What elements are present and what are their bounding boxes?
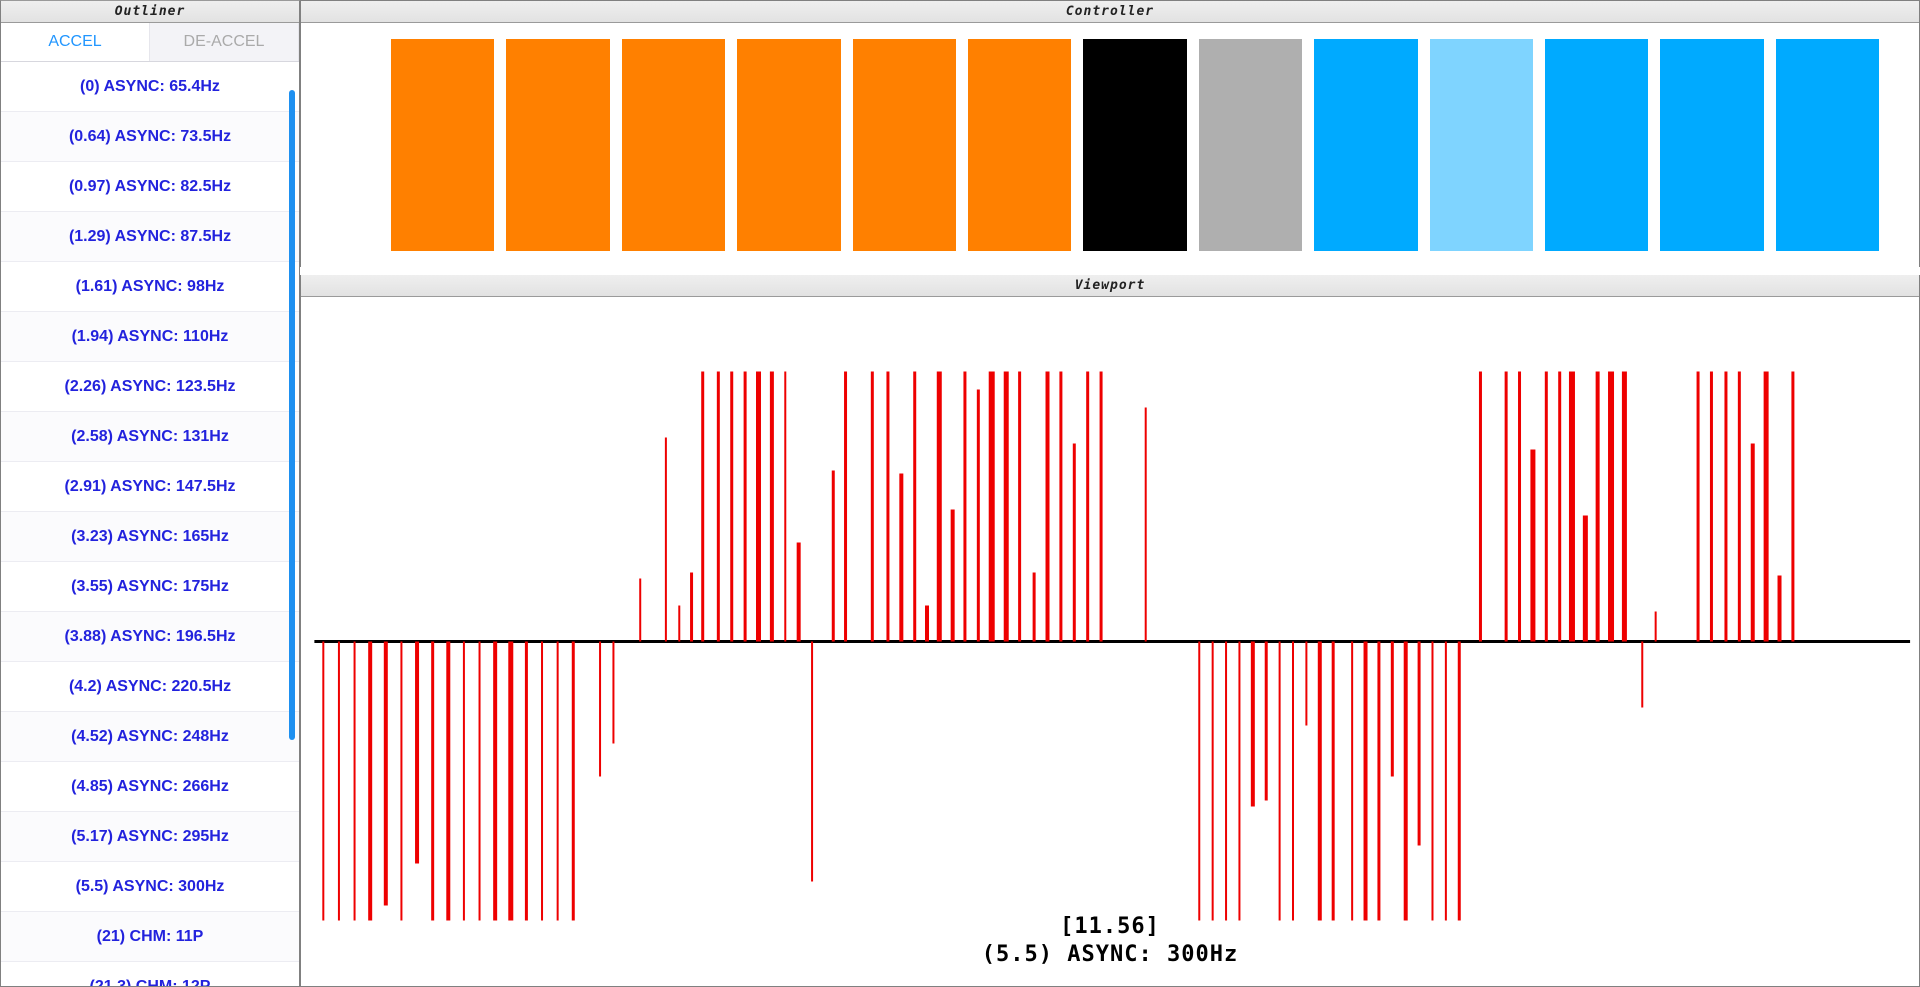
controller-bar-3[interactable] — [622, 39, 725, 251]
viewport-title: Viewport — [301, 275, 1919, 297]
controller-bars — [391, 39, 1879, 251]
outliner-item[interactable]: (2.26) ASYNC: 123.5Hz — [1, 362, 299, 412]
controller-body — [301, 23, 1919, 275]
viewport-body[interactable]: [11.56] (5.5) ASYNC: 300Hz — [301, 297, 1919, 986]
outliner-item[interactable]: (5.5) ASYNC: 300Hz — [1, 862, 299, 912]
controller-bar-8[interactable] — [1199, 39, 1302, 251]
outliner-item[interactable]: (21.3) CHM: 12P — [1, 962, 299, 986]
spike-plot — [301, 297, 1919, 986]
outliner-item[interactable]: (2.58) ASYNC: 131Hz — [1, 412, 299, 462]
controller-bar-4[interactable] — [737, 39, 840, 251]
outliner-item[interactable]: (4.85) ASYNC: 266Hz — [1, 762, 299, 812]
controller-bar-12[interactable] — [1660, 39, 1763, 251]
controller-title: Controller — [301, 1, 1919, 23]
outliner-item[interactable]: (0.64) ASYNC: 73.5Hz — [1, 112, 299, 162]
outliner-scroll-thumb[interactable] — [289, 90, 295, 740]
outliner-item[interactable]: (1.94) ASYNC: 110Hz — [1, 312, 299, 362]
outliner-item[interactable]: (0) ASYNC: 65.4Hz — [1, 62, 299, 112]
outliner-title: Outliner — [1, 1, 299, 23]
controller-bar-6[interactable] — [968, 39, 1071, 251]
viewport-panel: Viewport [11.56] (5.5) ASYNC: 300Hz — [300, 275, 1920, 987]
controller-bar-2[interactable] — [506, 39, 609, 251]
controller-bar-13[interactable] — [1776, 39, 1879, 251]
outliner-list-wrap: (0) ASYNC: 65.4Hz(0.64) ASYNC: 73.5Hz(0.… — [1, 62, 299, 986]
outliner-item[interactable]: (2.91) ASYNC: 147.5Hz — [1, 462, 299, 512]
outliner-item[interactable]: (4.52) ASYNC: 248Hz — [1, 712, 299, 762]
readout-label: (5.5) ASYNC: 300Hz — [301, 941, 1919, 969]
controller-bar-7[interactable] — [1083, 39, 1186, 251]
outliner-item[interactable]: (3.23) ASYNC: 165Hz — [1, 512, 299, 562]
outliner-tabbar: ACCEL DE-ACCEL — [1, 23, 299, 62]
outliner-item[interactable]: (1.29) ASYNC: 87.5Hz — [1, 212, 299, 262]
outliner-item[interactable]: (0.97) ASYNC: 82.5Hz — [1, 162, 299, 212]
controller-bar-1[interactable] — [391, 39, 494, 251]
tab-accel-label: ACCEL — [48, 33, 101, 51]
outliner-item[interactable]: (5.17) ASYNC: 295Hz — [1, 812, 299, 862]
controller-bar-9[interactable] — [1314, 39, 1417, 251]
outliner-scrollbar[interactable] — [289, 62, 295, 986]
controller-bar-5[interactable] — [853, 39, 956, 251]
tab-de-accel-label: DE-ACCEL — [184, 33, 265, 51]
right-column: Controller Viewport [11.56] (5.5) ASYNC:… — [300, 0, 1920, 987]
app-root: Outliner ACCEL DE-ACCEL (0) ASYNC: 65.4H… — [0, 0, 1920, 987]
controller-panel: Controller — [300, 0, 1920, 267]
outliner-list: (0) ASYNC: 65.4Hz(0.64) ASYNC: 73.5Hz(0.… — [1, 62, 299, 986]
viewport-readout: [11.56] (5.5) ASYNC: 300Hz — [301, 913, 1919, 968]
outliner-item[interactable]: (3.55) ASYNC: 175Hz — [1, 562, 299, 612]
tab-de-accel[interactable]: DE-ACCEL — [150, 23, 299, 61]
readout-index: [11.56] — [301, 913, 1919, 941]
outliner-panel: Outliner ACCEL DE-ACCEL (0) ASYNC: 65.4H… — [0, 0, 300, 987]
outliner-item[interactable]: (3.88) ASYNC: 196.5Hz — [1, 612, 299, 662]
outliner-item[interactable]: (21) CHM: 11P — [1, 912, 299, 962]
controller-bar-10[interactable] — [1430, 39, 1533, 251]
outliner-item[interactable]: (1.61) ASYNC: 98Hz — [1, 262, 299, 312]
tab-accel[interactable]: ACCEL — [1, 23, 150, 61]
outliner-item[interactable]: (4.2) ASYNC: 220.5Hz — [1, 662, 299, 712]
controller-bar-11[interactable] — [1545, 39, 1648, 251]
spike-plot-svg — [301, 297, 1919, 986]
